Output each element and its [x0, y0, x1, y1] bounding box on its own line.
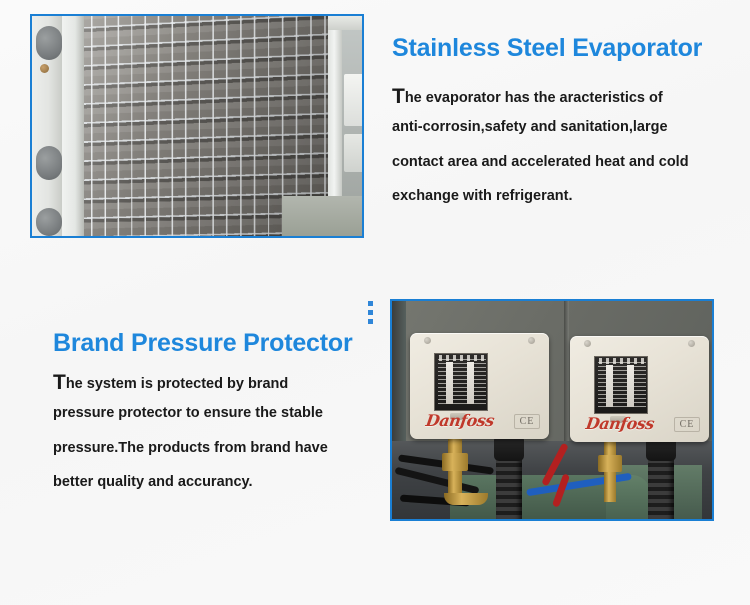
evaporator-description-line-3: contact area and accelerated heat and co…	[392, 155, 722, 170]
pressure-description-line-2: pressure protector to ensure the stable	[53, 406, 363, 421]
switch-scale-bar	[467, 362, 474, 404]
dot-separator-decoration	[368, 301, 373, 324]
evaporator-mount-pad	[36, 208, 62, 236]
pressure-scene: Danfoss CE Danfoss CE	[392, 301, 712, 519]
evaporator-mount-pad	[36, 146, 62, 180]
switch-scale-bar	[627, 365, 634, 407]
switch-scale-bar	[446, 362, 453, 404]
pressure-description-line-1: The system is protected by brand	[53, 372, 363, 393]
danfoss-logo: Danfoss	[585, 414, 656, 433]
evaporator-frame-post	[62, 16, 84, 236]
brass-elbow	[444, 493, 488, 505]
evaporator-window-upper	[344, 74, 364, 126]
separator-dot	[368, 310, 373, 315]
evaporator-description-line-2: anti-corrosin,safety and sanitation,larg…	[392, 120, 722, 135]
brass-fitting	[442, 453, 468, 471]
switch-screw	[528, 337, 535, 344]
pressure-description-line-3: pressure.The products from brand have	[53, 441, 363, 456]
flexible-conduit	[648, 431, 674, 521]
pressure-switch-unit: Danfoss CE	[570, 336, 709, 442]
pressure-dropcap: T	[53, 371, 66, 394]
pressure-panel-seam	[564, 301, 569, 449]
separator-dot	[368, 319, 373, 324]
switch-scale-bar	[606, 365, 613, 407]
switch-screw	[584, 340, 591, 347]
evaporator-description: The evaporator has the aracteristics of …	[392, 86, 722, 204]
evaporator-window-lower	[344, 134, 364, 172]
switch-screw	[688, 340, 695, 347]
pressure-protector-description: The system is protected by brand pressur…	[53, 372, 363, 490]
evaporator-description-line-4: exchange with refrigerant.	[392, 189, 722, 204]
switch-screw	[424, 337, 431, 344]
danfoss-logo: Danfoss	[425, 411, 496, 430]
evaporator-mount-pad	[36, 26, 62, 60]
evaporator-screw	[40, 64, 49, 73]
flexible-conduit	[496, 431, 522, 521]
stainless-steel-evaporator-photo	[30, 14, 364, 238]
pressure-description-line-4: better quality and accurancy.	[53, 475, 363, 490]
brass-fitting	[604, 472, 616, 502]
evaporator-heading: Stainless Steel Evaporator	[392, 34, 702, 63]
product-feature-page: Stainless Steel Evaporator The evaporato…	[0, 0, 750, 605]
evaporator-dropcap: T	[392, 85, 405, 108]
switch-scale-window	[434, 353, 488, 411]
pressure-protector-heading: Brand Pressure Protector	[53, 329, 352, 358]
evaporator-left-frame	[32, 16, 62, 236]
evaporator-description-line-1-text: he evaporator has the aracteristics of	[405, 90, 663, 106]
brand-pressure-protector-photo: Danfoss CE Danfoss CE	[390, 299, 714, 521]
switch-scale-window	[594, 356, 648, 414]
evaporator-top-strip	[328, 16, 364, 30]
evaporator-floor	[282, 196, 364, 236]
pressure-description-line-1-text: he system is protected by brand	[66, 376, 288, 392]
separator-dot	[368, 301, 373, 306]
brass-fitting	[598, 455, 622, 472]
ce-mark-icon: CE	[674, 417, 700, 432]
evaporator-description-line-1: The evaporator has the aracteristics of	[392, 86, 722, 107]
ce-mark-icon: CE	[514, 414, 540, 429]
evaporator-scene	[32, 16, 362, 236]
pressure-switch-unit: Danfoss CE	[410, 333, 549, 439]
